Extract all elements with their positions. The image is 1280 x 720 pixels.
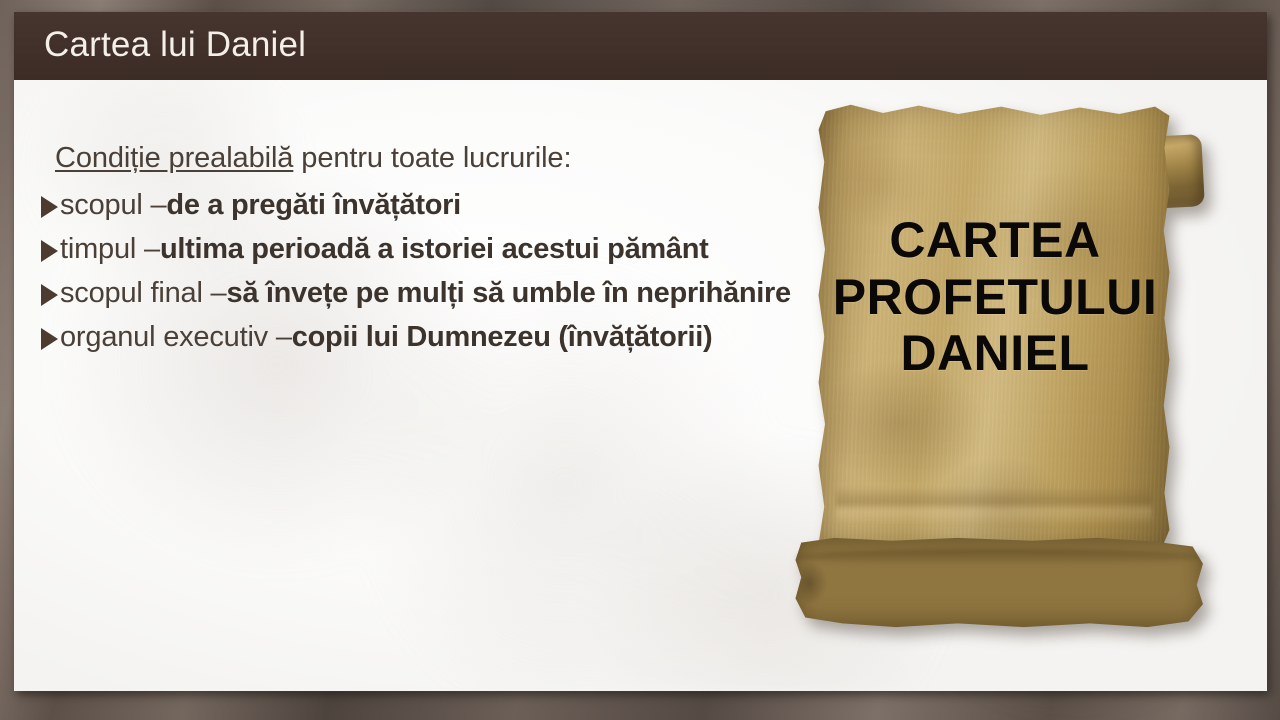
list-item-label: scopul final – (60, 277, 226, 310)
slide-stage: Cartea lui Daniel Condiție prealabilă pe… (0, 0, 1280, 720)
scroll-title-line-2: PROFETULUI (825, 269, 1165, 326)
lead-emphasis: Condiție prealabilă (55, 142, 293, 174)
scroll-parchment-image: CARTEA PROFETULUI DANIEL (785, 94, 1215, 639)
triangle-right-icon (41, 196, 58, 218)
slide-title-bar: Cartea lui Daniel (14, 12, 1267, 80)
list-item: organul executiv – copii lui Dumnezeu (î… (41, 321, 801, 354)
lead-rest: pentru toate lucrurile: (293, 142, 571, 174)
list-item-value: să învețe pe mulți să umble în neprihăni… (226, 277, 790, 310)
list-item-value: de a pregăti învățători (166, 189, 460, 222)
list-item-label: timpul – (60, 233, 160, 266)
list-item-value: ultima perioadă a istoriei acestui pămân… (160, 233, 709, 266)
list-item-label: organul executiv – (60, 321, 292, 354)
triangle-right-icon (41, 328, 58, 350)
list-item: timpul – ultima perioadă a istoriei aces… (41, 233, 801, 266)
triangle-right-icon (41, 284, 58, 306)
triangle-right-icon (41, 240, 58, 262)
page-title: Cartea lui Daniel (44, 25, 306, 65)
slide-body-content: Condiție prealabilă pentru toate lucruri… (41, 142, 801, 365)
parchment-crease (836, 487, 1151, 525)
list-item: scopul – de a pregăti învățători (41, 189, 801, 222)
list-item: scopul final – să învețe pe mulți să umb… (41, 277, 801, 310)
scroll-title-line-1: CARTEA (825, 212, 1165, 269)
presentation-slide: Cartea lui Daniel Condiție prealabilă pe… (14, 12, 1267, 691)
lead-line: Condiție prealabilă pentru toate lucruri… (55, 142, 801, 175)
list-item-label: scopul – (60, 189, 166, 222)
list-item-value: copii lui Dumnezeu (învățătorii) (292, 321, 713, 354)
scroll-bottom-roll-icon (793, 535, 1205, 631)
scroll-title: CARTEA PROFETULUI DANIEL (825, 212, 1165, 382)
scroll-title-line-3: DANIEL (825, 325, 1165, 382)
